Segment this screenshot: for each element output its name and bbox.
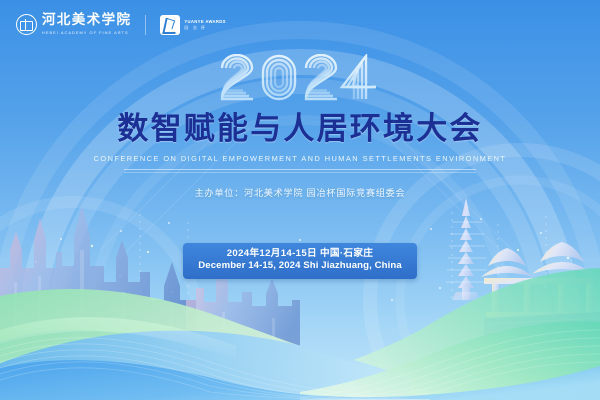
academy-name-cn: 河北美术学院 xyxy=(42,14,131,28)
rule-line-top xyxy=(124,169,476,170)
concentric-arcs-icon xyxy=(0,30,600,400)
banner-content: 数智赋能与人居环境大会 CONFERENCE ON DIGITAL EMPOWE… xyxy=(0,0,600,400)
conference-banner: 河北美术学院 HEBEI ACADEMY OF FINE ARTS YUANYE… xyxy=(0,0,600,400)
date-location-cn: 2024年12月14-15日 中国·石家庄 xyxy=(198,248,402,260)
date-location-en: December 14-15, 2024 Shi Jiazhuang, Chin… xyxy=(198,260,402,272)
page-subtitle-en: CONFERENCE ON DIGITAL EMPOWERMENT AND HU… xyxy=(94,154,507,163)
page-title: 数智赋能与人居环境大会 xyxy=(117,114,482,145)
academy-name-en: HEBEI ACADEMY OF FINE ARTS xyxy=(42,31,131,35)
rolling-hills-icon xyxy=(0,268,600,400)
yuanye-name-cn: 园 冶 杯 xyxy=(184,25,225,30)
date-location-badge[interactable]: 2024年12月14-15日 中国·石家庄 December 14-15, 20… xyxy=(183,243,417,279)
chinese-pagoda-icon xyxy=(446,198,488,300)
year-2024-graphic xyxy=(216,53,384,109)
yuanye-cup-icon xyxy=(160,15,180,35)
yuanye-logo[interactable]: YUANYE AWARDS 园 冶 杯 xyxy=(160,15,225,35)
organizer-line: 主办单位：河北美术学院 园冶杯国际竞赛组委会 xyxy=(195,185,406,199)
background-artwork xyxy=(0,0,600,400)
logo-divider xyxy=(145,15,146,35)
academy-logo[interactable]: 河北美术学院 HEBEI ACADEMY OF FINE ARTS xyxy=(16,14,131,35)
rule-line-bottom xyxy=(124,172,476,173)
title-rules xyxy=(124,169,476,173)
gothic-castle-silhouette-icon xyxy=(0,206,300,360)
academy-seal-icon xyxy=(16,14,37,35)
banner-header: 河北美术学院 HEBEI ACADEMY OF FINE ARTS YUANYE… xyxy=(16,14,226,35)
chinese-pavilion-gate-icon xyxy=(481,242,600,348)
